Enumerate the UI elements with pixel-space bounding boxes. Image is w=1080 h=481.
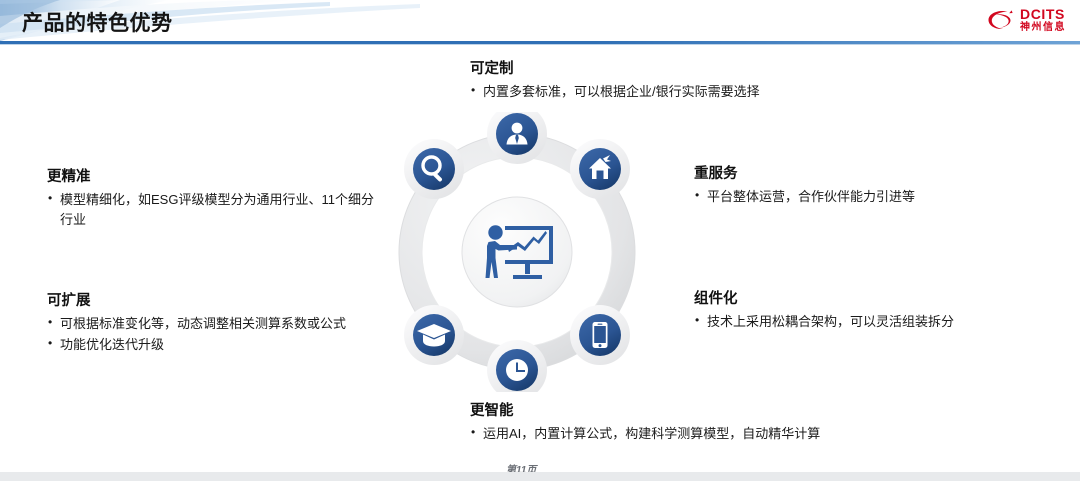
- feature-title: 可扩展: [47, 292, 377, 310]
- feature-bullet-list: 技术上采用松耦合架构，可以灵活组装拆分: [694, 312, 1034, 332]
- hub-badge-house[interactable]: [570, 139, 630, 199]
- feature-title: 组件化: [694, 290, 1034, 308]
- feature-block-componentized: 组件化 技术上采用松耦合架构，可以灵活组装拆分: [694, 290, 1034, 333]
- feature-block-service: 重服务 平台整体运营，合作伙伴能力引进等: [694, 165, 1034, 208]
- feature-bullet: 平台整体运营，合作伙伴能力引进等: [694, 187, 1034, 207]
- feature-bullet-list: 模型精细化，如ESG评级模型分为通用行业、11个细分行业: [47, 190, 377, 230]
- feature-bullet: 功能优化迭代升级: [47, 335, 377, 355]
- feature-bullet: 内置多套标准，可以根据企业/银行实际需要选择: [470, 82, 930, 102]
- slide-canvas: 产品的特色优势 DCITS 神州信息: [0, 0, 1080, 472]
- feature-bullet: 运用AI，内置计算公式，构建科学测算模型，自动精华计算: [470, 424, 950, 444]
- smartphone-icon: [593, 322, 608, 348]
- slide-header: 产品的特色优势 DCITS 神州信息: [0, 0, 1080, 45]
- feature-title: 重服务: [694, 165, 1034, 183]
- hub-badge-mobile[interactable]: [570, 305, 630, 365]
- dcits-swirl-icon: [987, 9, 1015, 31]
- feature-bullet: 技术上采用松耦合架构，可以灵活组装拆分: [694, 312, 1034, 332]
- feature-block-intelligent: 更智能 运用AI，内置计算公式，构建科学测算模型，自动精华计算: [470, 402, 950, 445]
- feature-bullet: 模型精细化，如ESG评级模型分为通用行业、11个细分行业: [47, 190, 377, 230]
- clock-icon: [506, 359, 528, 381]
- hub-badge-search[interactable]: [404, 139, 464, 199]
- feature-bullet-list: 可根据标准变化等，动态调整相关测算系数或公式 功能优化迭代升级: [47, 314, 377, 355]
- feature-title: 更智能: [470, 402, 950, 420]
- feature-title: 可定制: [470, 60, 930, 78]
- feature-title: 更精准: [47, 168, 377, 186]
- logo-chinese-text: 神州信息: [1020, 23, 1066, 33]
- feature-bullet-list: 平台整体运营，合作伙伴能力引进等: [694, 187, 1034, 207]
- brand-logo: DCITS 神州信息: [987, 7, 1066, 33]
- hub-center: [462, 197, 572, 307]
- header-divider-line-soft: [0, 44, 1080, 45]
- feature-bullet-list: 运用AI，内置计算公式，构建科学测算模型，自动精华计算: [470, 424, 950, 444]
- logo-english-text: DCITS: [1020, 7, 1066, 21]
- feature-bullet: 可根据标准变化等，动态调整相关测算系数或公式: [47, 314, 377, 334]
- feature-block-customizable: 可定制 内置多套标准，可以根据企业/银行实际需要选择: [470, 60, 930, 103]
- feature-block-accuracy: 更精准 模型精细化，如ESG评级模型分为通用行业、11个细分行业: [47, 168, 377, 231]
- feature-hub-diagram: [377, 112, 657, 392]
- feature-block-extensible: 可扩展 可根据标准变化等，动态调整相关测算系数或公式 功能优化迭代升级: [47, 292, 377, 356]
- hub-badge-education[interactable]: [404, 305, 464, 365]
- page-title: 产品的特色优势: [22, 7, 173, 37]
- feature-bullet-list: 内置多套标准，可以根据企业/银行实际需要选择: [470, 82, 930, 102]
- page-bottom-strip: [0, 472, 1080, 481]
- logo-text-group: DCITS 神州信息: [1020, 7, 1066, 33]
- page-number: 第11页: [506, 461, 536, 472]
